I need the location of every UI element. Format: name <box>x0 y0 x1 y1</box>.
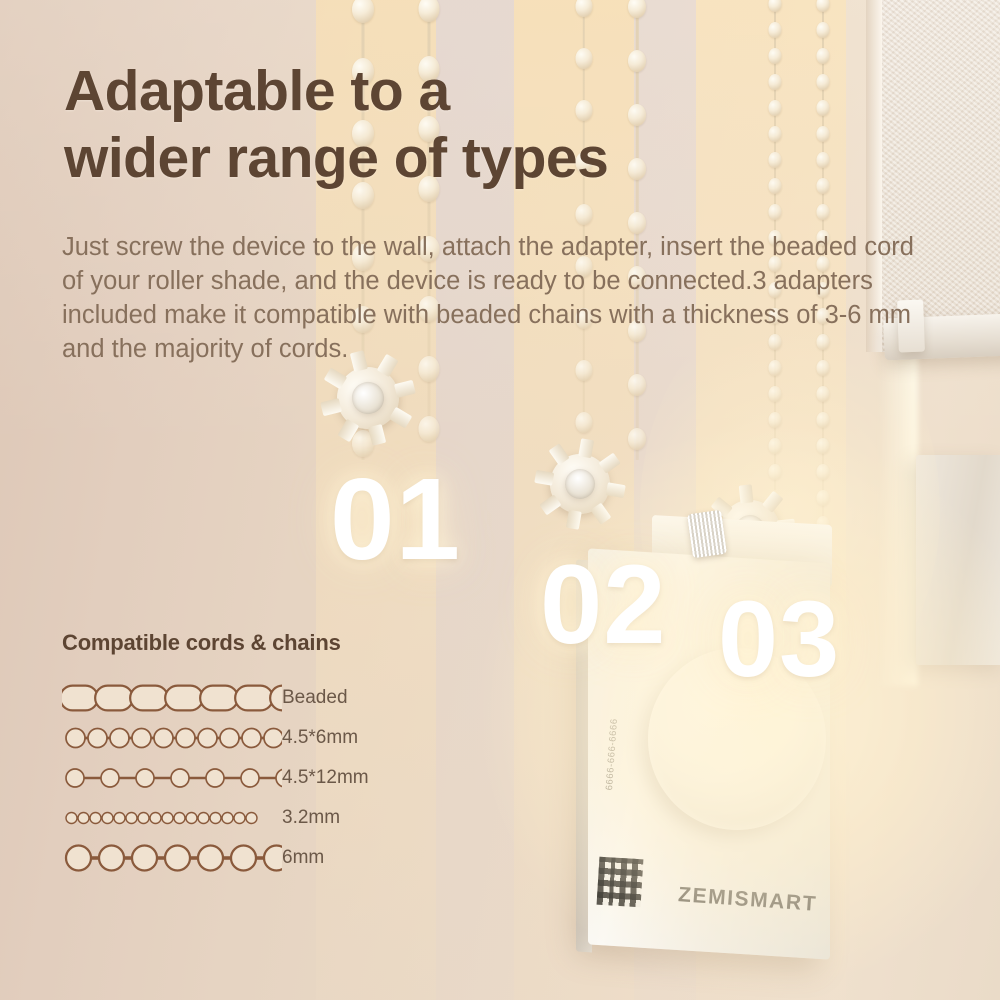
adapter-part-02 <box>529 433 631 535</box>
legend-label: 6mm <box>282 847 324 869</box>
body-copy: Just screw the device to the wall, attac… <box>62 231 927 367</box>
adapter-sleeve <box>687 510 727 558</box>
product-marketing-image: 6666-666-6666 ZEMISMART Adaptable to a w… <box>0 0 1000 1000</box>
gear-tooth <box>394 380 416 398</box>
gear-tooth <box>566 510 582 530</box>
legend-label: 4.5*6mm <box>282 727 358 749</box>
legend-label: 3.2mm <box>282 807 340 829</box>
legend-row: 4.5*12mm <box>62 758 422 798</box>
chain-bead <box>768 0 781 12</box>
chain-icon <box>62 838 282 878</box>
chain-bead <box>768 152 781 168</box>
chain-bead <box>816 74 829 90</box>
chain-bead <box>768 48 781 64</box>
chain-icon <box>62 758 282 798</box>
chain-bead <box>816 412 829 428</box>
chain-bead <box>628 0 646 18</box>
window-light <box>878 356 918 686</box>
chain-bead <box>768 100 781 116</box>
chain-bead <box>418 0 439 22</box>
legend-rows: Beaded4.5*6mm4.5*12mm3.2mm6mm <box>62 678 422 878</box>
legend-row: Beaded <box>62 678 422 718</box>
qr-code-icon <box>597 857 644 908</box>
legend-row: 6mm <box>62 838 422 878</box>
headline-line-2: wider range of types <box>64 125 764 192</box>
chain-bead <box>575 0 592 17</box>
chain-bead <box>768 74 781 90</box>
chain-bead <box>352 0 374 23</box>
chain-bead <box>816 152 829 168</box>
chain-bead <box>816 126 829 142</box>
chain-bead <box>768 178 781 194</box>
chain-bead <box>768 22 781 38</box>
gear-tooth <box>606 482 626 498</box>
chain-bead <box>768 438 781 454</box>
chain-icon <box>62 678 282 718</box>
chain-bead <box>816 178 829 194</box>
chain-bead <box>816 204 829 220</box>
headline-line-1: Adaptable to a <box>64 58 764 125</box>
legend-row: 3.2mm <box>62 798 422 838</box>
chain-bead <box>768 412 781 428</box>
gear-tooth <box>320 398 342 416</box>
chain-bead <box>816 100 829 116</box>
step-number-02: 02 <box>540 540 667 669</box>
chain-bead <box>628 374 646 396</box>
chain-bead <box>816 464 829 480</box>
legend-label: 4.5*12mm <box>282 767 369 789</box>
chain-bead <box>816 438 829 454</box>
gear-tooth <box>739 484 754 504</box>
chain-bead <box>768 386 781 402</box>
legend-row: 4.5*6mm <box>62 718 422 758</box>
chain-bead <box>768 126 781 142</box>
chain-bead <box>816 386 829 402</box>
gear-tooth <box>368 424 386 446</box>
roller-blind-panel <box>916 455 1000 665</box>
legend-label: Beaded <box>282 687 348 709</box>
legend-title: Compatible cords & chains <box>62 630 422 656</box>
chain-bead <box>575 204 592 225</box>
step-number-03: 03 <box>718 576 840 701</box>
compatible-cords-legend: Compatible cords & chains Beaded4.5*6mm4… <box>62 630 422 878</box>
page-title: Adaptable to a wider range of types <box>64 58 764 193</box>
chain-bead <box>816 22 829 38</box>
gear-tooth <box>578 438 594 458</box>
chain-bead <box>816 490 829 506</box>
chain-bead <box>628 428 646 450</box>
chain-bead <box>816 48 829 64</box>
chain-icon <box>62 798 282 838</box>
chain-bead <box>768 464 781 480</box>
step-number-01: 01 <box>330 452 461 586</box>
gear-tooth <box>534 470 554 486</box>
chain-bead <box>768 204 781 220</box>
chain-bead <box>816 0 829 12</box>
chain-icon <box>62 718 282 758</box>
chain-bead <box>575 412 592 433</box>
